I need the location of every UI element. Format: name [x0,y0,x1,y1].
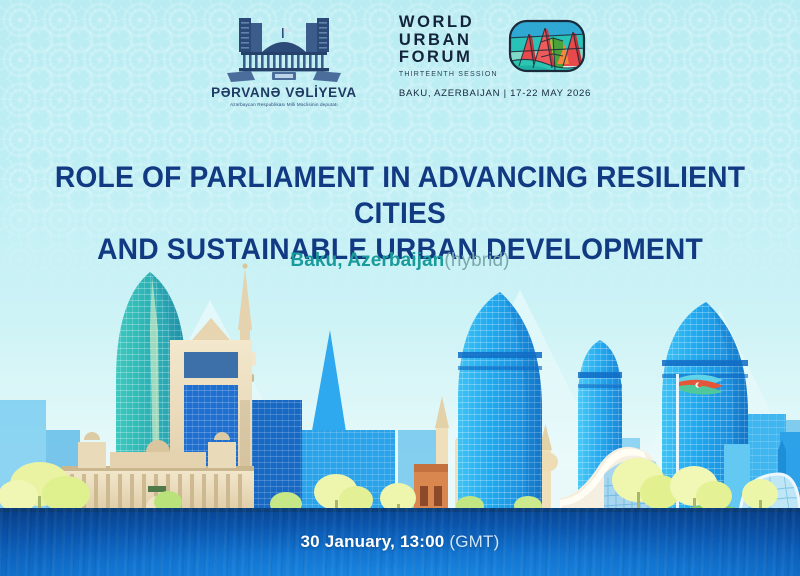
parliament-logo: PƏRVANƏ VƏLİYEVA Azərbaycan Respublikası… [209,14,359,107]
event-poster: PƏRVANƏ VƏLİYEVA Azərbaycan Respublikası… [0,0,800,576]
wuf-word-world: WORLD [399,14,498,32]
wuf-logo: WORLD URBAN FORUM THIRTEENTH SESSION [399,14,591,99]
wuf-word-forum: FORUM [399,49,498,67]
world-urban-forum-emblem-icon [507,14,587,80]
deputy-subtitle: Azərbaycan Respublikası Milli Məclisinin… [230,102,338,107]
wuf-venue-dates: BAKU, AZERBAIJAN | 17-22 MAY 2026 [399,88,591,99]
parliament-building-icon [225,14,343,82]
poster-location: Baku, Azerbaijan(hybrid) [0,250,800,272]
wuf-word-urban: URBAN [399,32,498,50]
format-text: (hybrid) [444,250,509,271]
poster-header: PƏRVANƏ VƏLİYEVA Azərbaycan Respublikası… [0,14,800,130]
wuf-wordmark: WORLD URBAN FORUM THIRTEENTH SESSION [399,14,498,78]
title-line-1: ROLE OF PARLIAMENT IN ADVANCING RESILIEN… [24,160,776,232]
datetime-text: 30 January, 13:00 [301,532,445,552]
event-datetime: 30 January, 13:00 (GMT) [0,508,800,576]
timezone-text: (GMT) [449,532,499,552]
sea-band: 30 January, 13:00 (GMT) [0,508,800,576]
location-text: Baku, Azerbaijan [290,250,444,271]
wuf-session-label: THIRTEENTH SESSION [399,71,498,78]
deputy-name: PƏRVANƏ VƏLİYEVA [211,85,357,100]
